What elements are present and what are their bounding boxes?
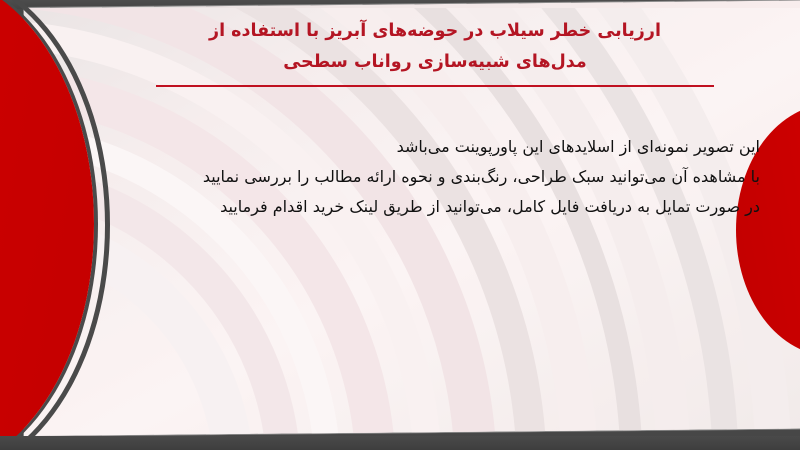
slide-canvas: ارزیابی خطر سیلاب در حوضه‌های آبریز با ا… bbox=[0, 0, 800, 450]
slide-body-line-2: با مشاهده آن می‌توانید سبک طراحی، رنگ‌بن… bbox=[84, 162, 760, 192]
slide-plate-inner: ارزیابی خطر سیلاب در حوضه‌های آبریز با ا… bbox=[24, 8, 800, 436]
slide-body: این تصویر نمونه‌ای از اسلایدهای این پاور… bbox=[84, 132, 760, 222]
frame-bottom-band bbox=[0, 436, 800, 450]
slide-body-line-3: در صورت تمایل به دریافت فایل کامل، می‌تو… bbox=[84, 192, 760, 222]
slide-body-line-1: این تصویر نمونه‌ای از اسلایدهای این پاور… bbox=[84, 132, 760, 162]
slide-title-line-1: ارزیابی خطر سیلاب در حوضه‌های آبریز با ا… bbox=[154, 16, 716, 47]
slide-title-line-2: مدل‌های شبیه‌سازی رواناب سطحی bbox=[154, 47, 716, 78]
slide-title: ارزیابی خطر سیلاب در حوضه‌های آبریز با ا… bbox=[154, 16, 716, 78]
title-underline-rule bbox=[156, 85, 714, 87]
slide-plate: ارزیابی خطر سیلاب در حوضه‌های آبریز با ا… bbox=[24, 1, 800, 436]
